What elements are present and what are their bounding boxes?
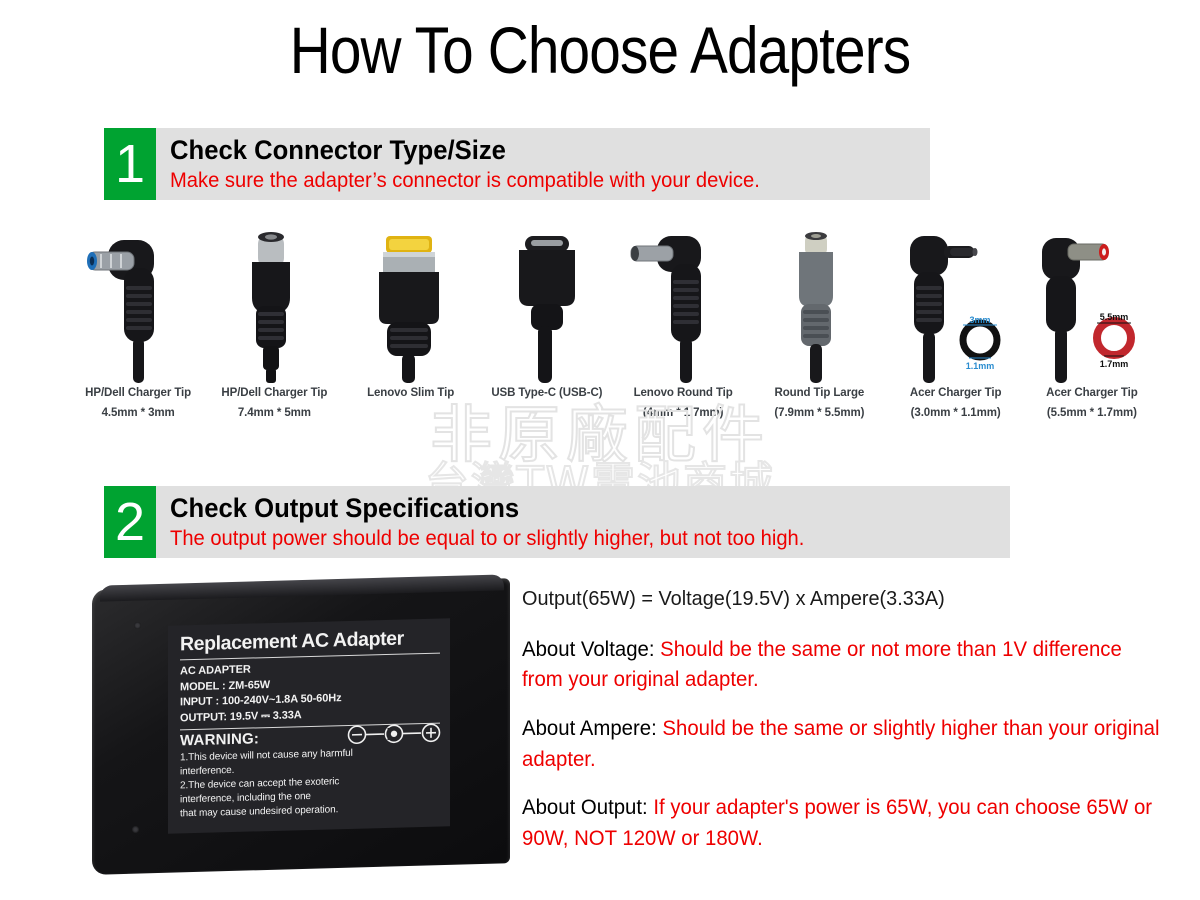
connector-size: 4.5mm * 3mm [85, 403, 191, 423]
connector-label: Lenovo Slim Tip [367, 383, 454, 403]
hp-7450-tip-icon [206, 228, 342, 383]
about-ampere-key: About Ampere: [522, 717, 662, 740]
connector-name: USB Type-C (USB-C) [491, 383, 602, 403]
step-1-header: 1 Check Connector Type/Size Make sure th… [104, 128, 930, 200]
connector-name: Acer Charger Tip [910, 383, 1002, 403]
connector-item-round-large: Round Tip Large (7.9mm * 5.5mm) [751, 228, 887, 433]
round-tip-large-icon [751, 228, 887, 383]
step-2-subtitle: The output power should be equal to or s… [170, 526, 976, 551]
connector-size: 7.4mm * 5mm [221, 403, 327, 423]
connector-item-hp-4-5mm: HP/Dell Charger Tip 4.5mm * 3mm [70, 228, 206, 433]
connector-label: Lenovo Round Tip (4mm * 1.7mm) [634, 383, 733, 423]
lenovo-slim-tip-icon [343, 228, 479, 383]
connector-label: USB Type-C (USB-C) [491, 383, 602, 403]
about-output-paragraph: About Output: If your adapter's power is… [522, 793, 1162, 854]
adapter-spec-label: Replacement AC Adapter AC ADAPTER MODEL … [168, 618, 450, 833]
connector-item-lenovo-round: Lenovo Round Tip (4mm * 1.7mm) [615, 228, 751, 433]
connector-name: Acer Charger Tip [1046, 383, 1138, 403]
acer-55mm-callout-outer: 5.5mm [1100, 312, 1129, 322]
hp-blue-tip-icon [70, 228, 206, 383]
usb-c-icon [479, 228, 615, 383]
connector-label: Round Tip Large (7.9mm * 5.5mm) [774, 383, 864, 423]
lenovo-round-tip-icon [615, 228, 751, 383]
step-1-number: 1 [104, 128, 156, 200]
step-2-number: 2 [104, 486, 156, 558]
connector-item-usb-c: USB Type-C (USB-C) [479, 228, 615, 433]
connector-size: (7.9mm * 5.5mm) [774, 403, 864, 423]
connector-item-acer-3mm: 3mm 1.1mm Acer Charger Tip (3.0mm * 1.1m… [888, 228, 1024, 433]
connector-label: Acer Charger Tip (5.5mm * 1.7mm) [1046, 383, 1138, 423]
step-1-title: Check Connector Type/Size [170, 135, 892, 165]
connector-item-acer-5-5mm: 5.5mm 1.7mm Acer Charger Tip (5.5mm * 1.… [1024, 228, 1160, 433]
connector-size: (3.0mm * 1.1mm) [910, 403, 1002, 423]
connector-name: Lenovo Round Tip [634, 383, 733, 403]
step-2-text-group: Check Output Specifications The output p… [156, 486, 1010, 558]
about-voltage-paragraph: About Voltage: Should be the same or not… [522, 635, 1162, 696]
adapter-screw [134, 622, 141, 629]
adapter-warning-list: 1.This device will not cause any harmful… [180, 745, 440, 821]
connector-item-lenovo-slim: Lenovo Slim Tip [343, 228, 479, 433]
connector-size: (5.5mm * 1.7mm) [1046, 403, 1138, 423]
output-spec-text-block: Output(65W) = Voltage(19.5V) x Ampere(3.… [522, 586, 1182, 873]
step-1-text-group: Check Connector Type/Size Make sure the … [156, 128, 930, 200]
ac-adapter-photo: Replacement AC Adapter AC ADAPTER MODEL … [92, 578, 510, 878]
step-2-header: 2 Check Output Specifications The output… [104, 486, 1010, 558]
acer-3mm-tip-icon: 3mm 1.1mm [888, 228, 1024, 383]
connector-item-hp-7-4mm: HP/Dell Charger Tip 7.4mm * 5mm [206, 228, 342, 433]
about-ampere-paragraph: About Ampere: Should be the same or slig… [522, 714, 1162, 775]
step-2-title: Check Output Specifications [170, 493, 968, 523]
connector-label: Acer Charger Tip (3.0mm * 1.1mm) [910, 383, 1002, 423]
page-title: How To Choose Adapters [84, 12, 1116, 88]
connector-name: Round Tip Large [774, 383, 864, 403]
connector-gallery: HP/Dell Charger Tip 4.5mm * 3mm [70, 228, 1160, 433]
adapter-screw [132, 826, 139, 833]
output-formula: Output(65W) = Voltage(19.5V) x Ampere(3.… [522, 586, 1162, 613]
adapter-spec-block: AC ADAPTER MODEL : ZM-65W INPUT : 100-24… [180, 658, 440, 727]
connector-name: HP/Dell Charger Tip [221, 383, 327, 403]
connector-size: (4mm * 1.7mm) [634, 403, 733, 423]
polarity-symbol-icon [346, 723, 442, 746]
acer-55mm-tip-icon: 5.5mm 1.7mm [1024, 228, 1160, 383]
infographic-page: How To Choose Adapters 1 Check Connector… [0, 0, 1200, 900]
adapter-brand: Replacement AC Adapter [180, 627, 440, 661]
connector-label: HP/Dell Charger Tip 4.5mm * 3mm [85, 383, 191, 423]
connector-label: HP/Dell Charger Tip 7.4mm * 5mm [221, 383, 327, 423]
step-1-subtitle: Make sure the adapter’s connector is com… [170, 168, 900, 193]
acer-55mm-callout-inner: 1.7mm [1100, 359, 1129, 369]
connector-name: Lenovo Slim Tip [367, 383, 454, 403]
connector-name: HP/Dell Charger Tip [85, 383, 191, 403]
about-output-key: About Output: [522, 796, 653, 819]
about-voltage-key: About Voltage: [522, 638, 660, 661]
acer-3mm-callout-inner: 1.1mm [965, 361, 994, 371]
acer-3mm-callout-outer: 3mm [969, 315, 990, 325]
